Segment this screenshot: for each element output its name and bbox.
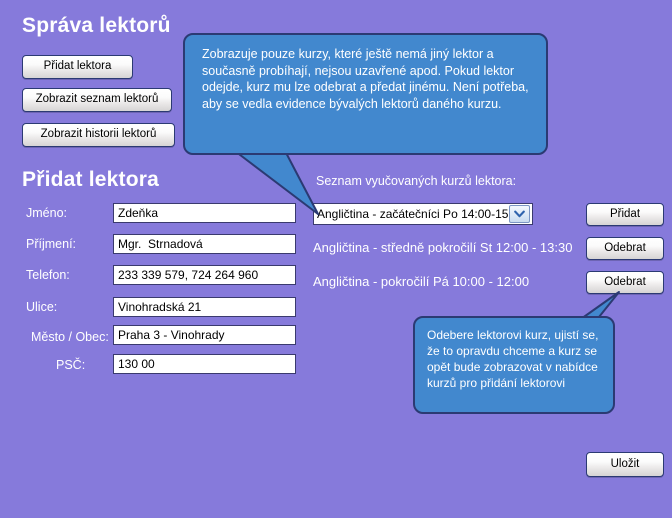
callout-courses-info-text: Zobrazuje pouze kurzy, které ještě nemá … xyxy=(202,46,532,112)
street-input[interactable] xyxy=(113,297,296,317)
last-name-label: Příjmení: xyxy=(26,237,76,251)
assigned-course-row: Angličtina - pokročilí Pá 10:00 - 12:00 xyxy=(313,274,529,289)
show-lecturer-list-button[interactable]: Zobrazit seznam lektorů xyxy=(22,88,172,112)
city-label: Město / Obec: xyxy=(31,330,109,344)
callout-remove-info: Odebere lektorovi kurz, ujistí se, že to… xyxy=(413,316,615,414)
courses-list-label: Seznam vyučovaných kurzů lektora: xyxy=(316,174,516,188)
course-select-value: Angličtina - začátečníci Po 14:00-15:30 xyxy=(314,207,509,221)
callout-remove-info-text: Odebere lektorovi kurz, ujistí se, že to… xyxy=(427,327,603,391)
add-lecturer-button-label: Přidat lektora xyxy=(44,61,112,73)
city-input[interactable] xyxy=(113,325,296,345)
app-root: Správa lektorů Přidat lektora Přidat lek… xyxy=(0,0,672,518)
last-name-input[interactable] xyxy=(113,234,296,254)
course-remove-button-2-label: Odebrat xyxy=(604,277,646,289)
assigned-course-row: Angličtina - středně pokročilí St 12:00 … xyxy=(313,240,572,255)
course-add-button[interactable]: Přidat xyxy=(586,203,664,226)
show-lecturer-history-button-label: Zobrazit historii lektorů xyxy=(41,129,157,141)
page-title: Správa lektorů xyxy=(22,14,171,38)
show-lecturer-list-button-label: Zobrazit seznam lektorů xyxy=(36,94,159,106)
save-button[interactable]: Uložit xyxy=(586,452,664,477)
course-remove-button-1-label: Odebrat xyxy=(604,243,646,255)
save-button-label: Uložit xyxy=(611,459,640,471)
phone-input[interactable] xyxy=(113,265,296,285)
first-name-input[interactable] xyxy=(113,203,296,223)
course-remove-button-1[interactable]: Odebrat xyxy=(586,237,664,260)
section-title: Přidat lektora xyxy=(22,168,159,192)
chevron-down-icon[interactable] xyxy=(509,205,530,223)
show-lecturer-history-button[interactable]: Zobrazit historii lektorů xyxy=(22,123,175,147)
callout-courses-info: Zobrazuje pouze kurzy, které ještě nemá … xyxy=(183,33,548,155)
phone-label: Telefon: xyxy=(26,268,70,282)
first-name-label: Jméno: xyxy=(26,206,67,220)
street-label: Ulice: xyxy=(26,300,57,314)
course-select[interactable]: Angličtina - začátečníci Po 14:00-15:30 xyxy=(313,203,533,225)
course-add-button-label: Přidat xyxy=(610,209,640,221)
course-remove-button-2[interactable]: Odebrat xyxy=(586,271,664,294)
add-lecturer-button[interactable]: Přidat lektora xyxy=(22,55,133,79)
zip-input[interactable] xyxy=(113,354,296,374)
zip-label: PSČ: xyxy=(56,358,85,372)
